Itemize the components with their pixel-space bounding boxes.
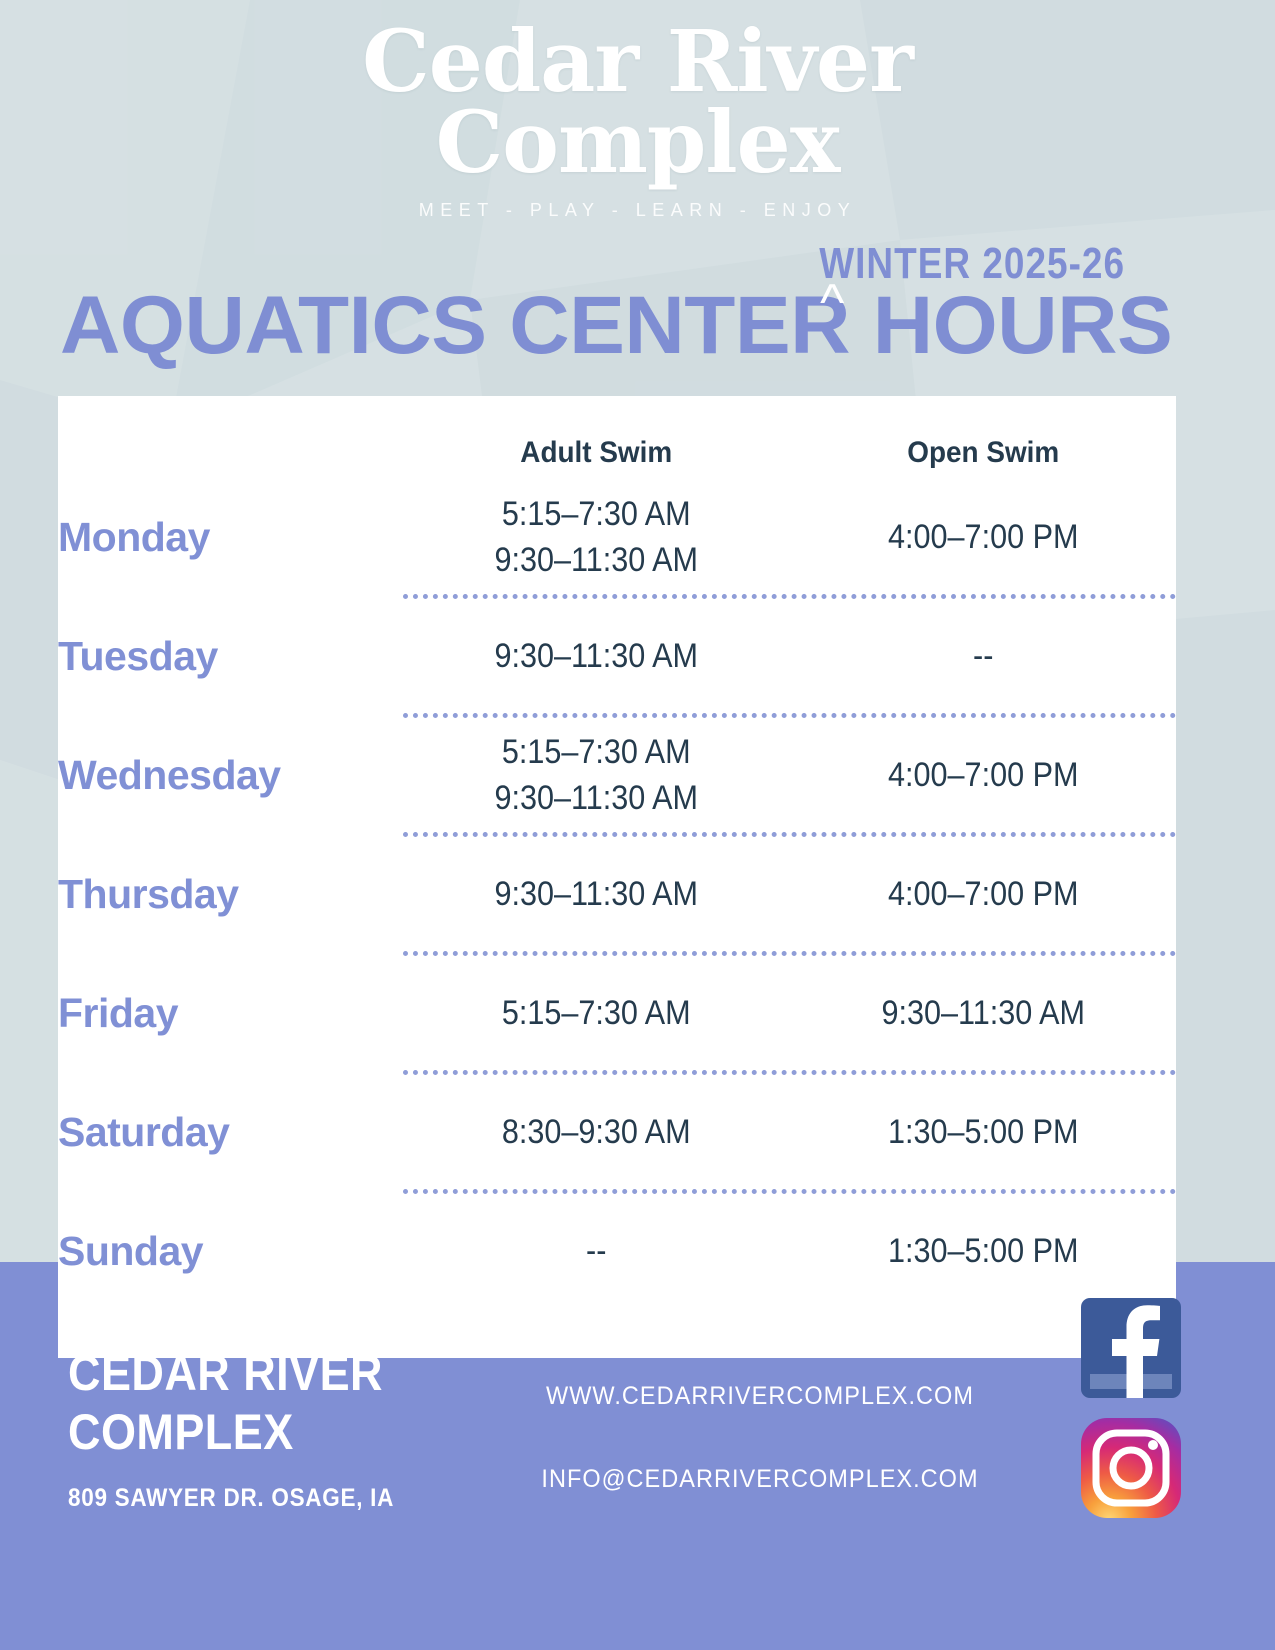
day-label: Friday	[58, 956, 403, 1070]
time-slot: 1:30–5:00 PM	[809, 1109, 1157, 1155]
time-slot: 5:15–7:30 AM	[422, 729, 770, 775]
open-swim-times: 4:00–7:00 PM	[809, 837, 1157, 951]
adult-swim-times: 5:15–7:30 AM	[422, 956, 770, 1070]
footer-brand-line-2: COMPLEX	[68, 1403, 383, 1462]
footer-address: 809 SAWYER DR. OSAGE, IA	[68, 1484, 394, 1513]
time-slot: 5:15–7:30 AM	[422, 491, 770, 537]
schedule-table-body: Monday5:15–7:30 AM9:30–11:30 AM4:00–7:00…	[58, 480, 1176, 1308]
schedule-panel: Adult Swim Open Swim Monday5:15–7:30 AM9…	[58, 396, 1176, 1358]
brand-logo-name: Cedar River Complex	[0, 0, 1275, 184]
brand-name-line-2: Complex	[0, 103, 1275, 184]
table-header-row: Adult Swim Open Swim	[58, 396, 1176, 480]
time-slot: 8:30–9:30 AM	[422, 1109, 770, 1155]
open-swim-times: --	[809, 599, 1157, 713]
footer-brand-line-1: CEDAR RIVER	[68, 1344, 383, 1403]
open-swim-times: 4:00–7:00 PM	[809, 480, 1157, 594]
footer-website-link[interactable]: WWW.CEDARRIVERCOMPLEX.COM	[516, 1382, 1005, 1411]
time-slot: 4:00–7:00 PM	[809, 871, 1157, 917]
adult-swim-times: 9:30–11:30 AM	[422, 837, 770, 951]
footer-email-link[interactable]: INFO@CEDARRIVERCOMPLEX.COM	[516, 1465, 1005, 1494]
adult-swim-times: 9:30–11:30 AM	[422, 599, 770, 713]
table-row: Tuesday9:30–11:30 AM--	[58, 599, 1176, 713]
caret-insert-icon: ^	[820, 277, 844, 329]
schedule-table-head: Adult Swim Open Swim	[58, 396, 1176, 480]
time-slot: 4:00–7:00 PM	[809, 514, 1157, 560]
brand-tagline: MEET - PLAY - LEARN - ENJOY	[0, 200, 1275, 221]
time-slot: 9:30–11:30 AM	[422, 871, 770, 917]
table-row: Monday5:15–7:30 AM9:30–11:30 AM4:00–7:00…	[58, 480, 1176, 594]
poster-header: Cedar River Complex MEET - PLAY - LEARN …	[0, 0, 1275, 367]
table-row: Friday5:15–7:30 AM9:30–11:30 AM	[58, 956, 1176, 1070]
day-label: Wednesday	[58, 718, 403, 832]
column-header-open-swim: Open Swim	[803, 396, 1162, 480]
time-slot: --	[809, 633, 1157, 679]
table-row: Thursday9:30–11:30 AM4:00–7:00 PM	[58, 837, 1176, 951]
poster-footer: CEDAR RIVER COMPLEX 809 SAWYER DR. OSAGE…	[0, 1262, 1275, 1650]
footer-contact-block: WWW.CEDARRIVERCOMPLEX.COM INFO@CEDARRIVE…	[500, 1382, 1020, 1494]
facebook-icon[interactable]	[1081, 1298, 1181, 1398]
adult-swim-times: 5:15–7:30 AM9:30–11:30 AM	[422, 480, 770, 594]
time-slot: 5:15–7:30 AM	[422, 990, 770, 1036]
open-swim-times: 1:30–5:00 PM	[809, 1075, 1157, 1189]
day-label: Tuesday	[58, 599, 403, 713]
column-header-adult-swim: Adult Swim	[417, 396, 776, 480]
schedule-table: Adult Swim Open Swim Monday5:15–7:30 AM9…	[58, 396, 1176, 1308]
table-row: Wednesday5:15–7:30 AM9:30–11:30 AM4:00–7…	[58, 718, 1176, 832]
table-row: Saturday8:30–9:30 AM1:30–5:00 PM	[58, 1075, 1176, 1189]
page-title-row: AQUATICS CENTER HOURS ^	[0, 285, 1275, 367]
column-header-day	[70, 396, 391, 480]
page-title: AQUATICS CENTER HOURS	[60, 285, 1172, 367]
time-slot: 4:00–7:00 PM	[809, 752, 1157, 798]
adult-swim-times: 8:30–9:30 AM	[422, 1075, 770, 1189]
time-slot: 9:30–11:30 AM	[422, 633, 770, 679]
day-label: Thursday	[58, 837, 403, 951]
day-label: Saturday	[58, 1075, 403, 1189]
instagram-icon[interactable]	[1081, 1418, 1181, 1518]
time-slot: 9:30–11:30 AM	[422, 775, 770, 821]
day-label: Monday	[58, 480, 403, 594]
open-swim-times: 9:30–11:30 AM	[809, 956, 1157, 1070]
open-swim-times: 4:00–7:00 PM	[809, 718, 1157, 832]
adult-swim-times: 5:15–7:30 AM9:30–11:30 AM	[422, 718, 770, 832]
time-slot: 9:30–11:30 AM	[809, 990, 1157, 1036]
time-slot: 9:30–11:30 AM	[422, 537, 770, 583]
social-links	[1081, 1298, 1181, 1518]
footer-brand-name: CEDAR RIVER COMPLEX	[68, 1344, 383, 1462]
